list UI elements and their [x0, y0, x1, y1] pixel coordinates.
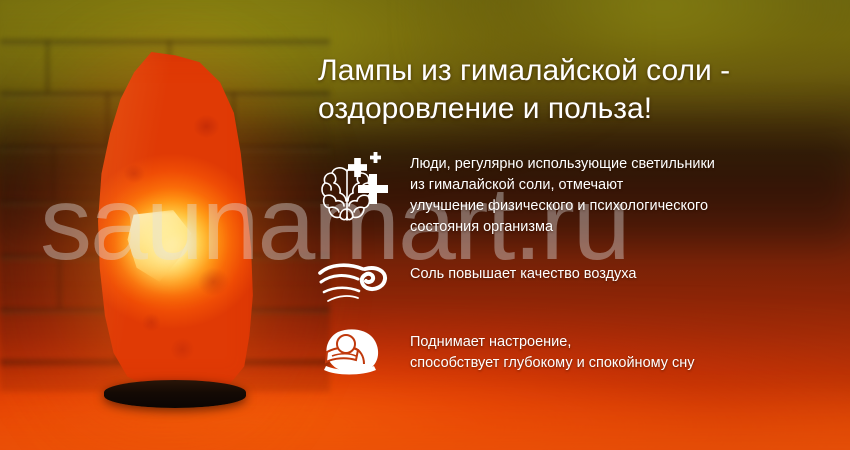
wind-icon — [318, 248, 410, 320]
headline-line-2: оздоровление и польза! — [318, 90, 838, 128]
feature-line: Поднимает настроение, — [410, 332, 846, 353]
page-title: Лампы из гималайской соли - оздоровление… — [318, 52, 838, 128]
feature-text-air-quality: Соль повышает качество воздуха — [410, 248, 846, 285]
sleeping-person-icon — [318, 320, 410, 392]
salt-lamp-promo-banner: saunamart.ru Лампы из гималайской соли -… — [0, 0, 850, 450]
feature-line: улучшение физического и психологического — [410, 196, 846, 217]
feature-item-wellbeing: Люди, регулярно использующие светильники… — [318, 152, 846, 248]
feature-line: из гималайской соли, отмечают — [410, 175, 846, 196]
feature-item-sleep: Поднимает настроение, способствует глубо… — [318, 320, 846, 392]
feature-line: способствует глубокому и спокойному сну — [410, 353, 846, 374]
salt-lamp-product-image — [78, 52, 268, 412]
feature-list: Люди, регулярно использующие светильники… — [318, 152, 846, 392]
feature-text-sleep: Поднимает настроение, способствует глубо… — [410, 320, 846, 374]
lamp-wooden-base — [104, 380, 246, 408]
headline-line-1: Лампы из гималайской соли - — [318, 52, 838, 90]
feature-item-air-quality: Соль повышает качество воздуха — [318, 248, 846, 320]
feature-line: Люди, регулярно использующие светильники — [410, 154, 846, 175]
feature-text-wellbeing: Люди, регулярно использующие светильники… — [410, 152, 846, 239]
brain-icon — [318, 152, 410, 232]
feature-line: состояния организма — [410, 217, 846, 238]
feature-line: Соль повышает качество воздуха — [410, 264, 846, 285]
